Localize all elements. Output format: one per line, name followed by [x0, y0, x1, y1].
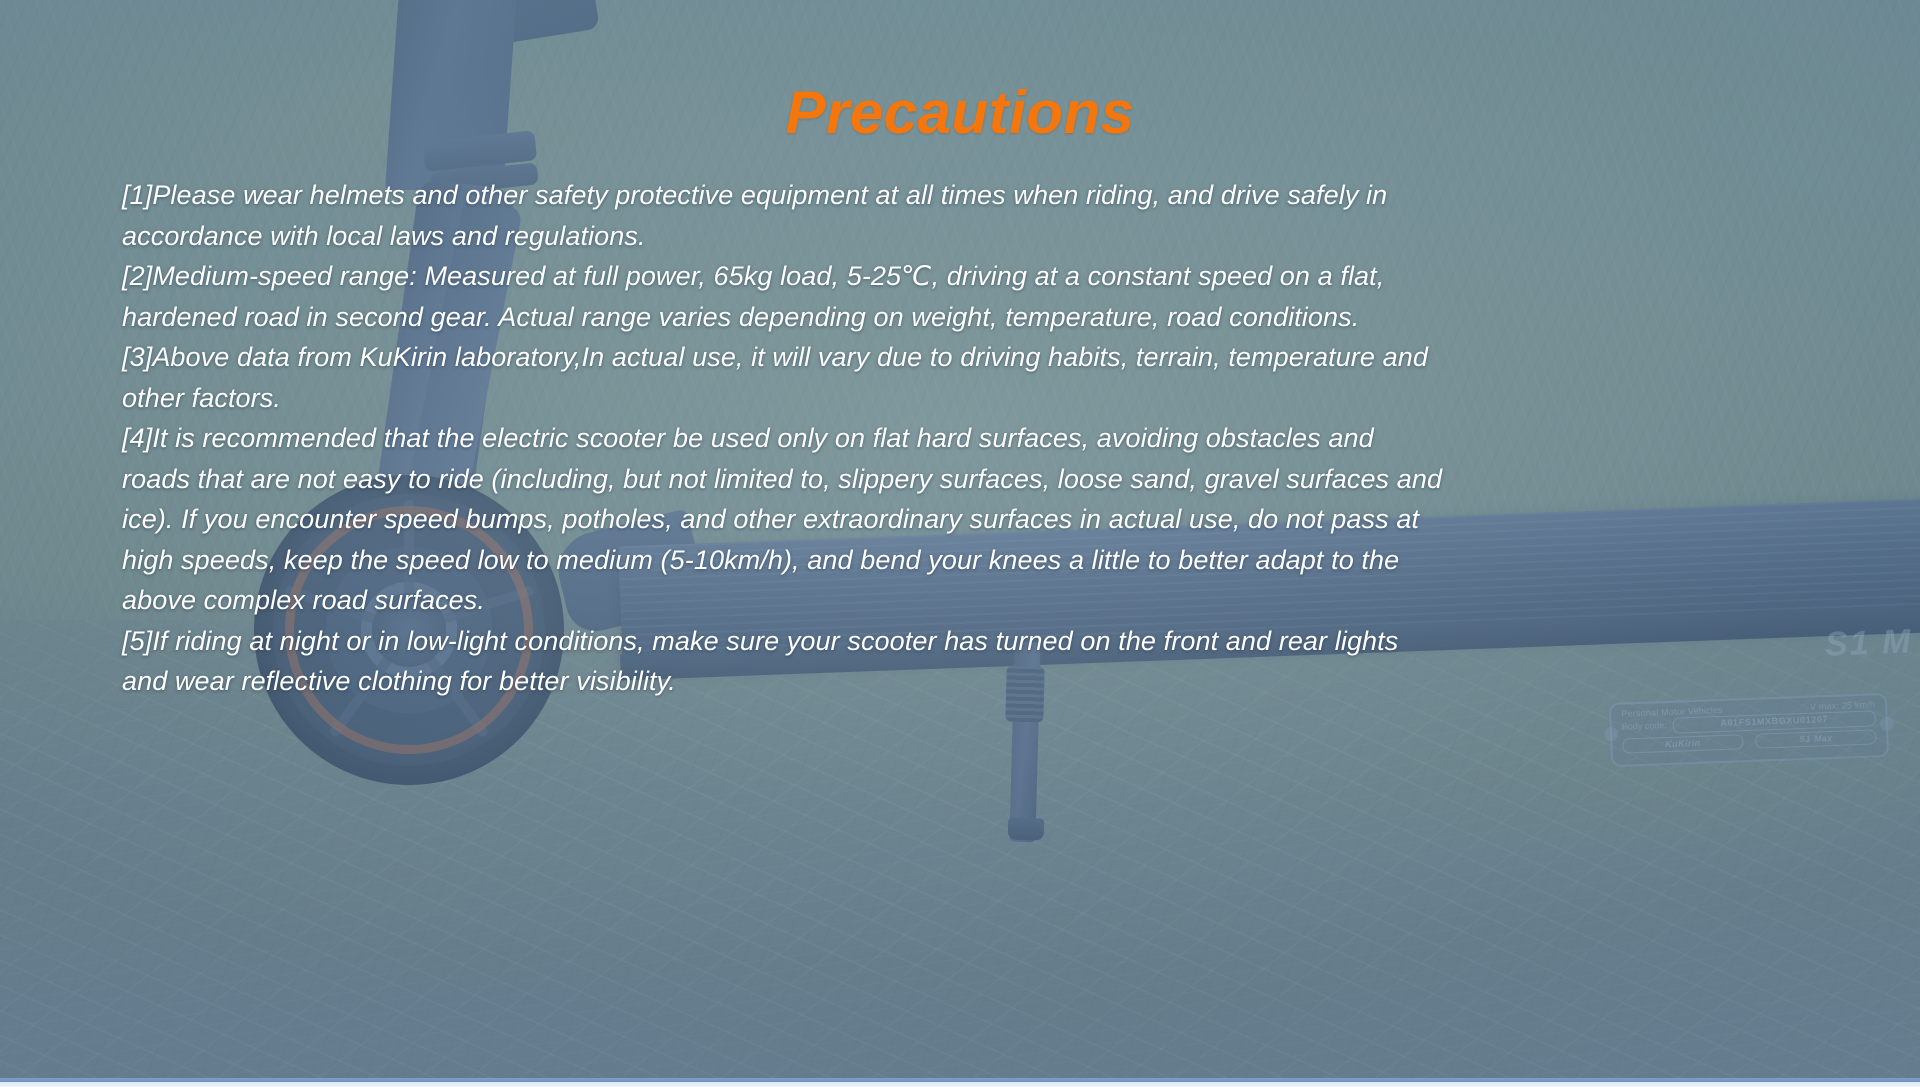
precautions-list: [1]Please wear helmets and other safety … — [122, 175, 1447, 702]
precaution-item: [1]Please wear helmets and other safety … — [122, 175, 1447, 256]
precaution-item: [3]Above data from KuKirin laboratory,In… — [122, 337, 1447, 418]
precautions-slide: S1 M Personal Motor Vehicles V max: 25 k… — [0, 0, 1920, 1087]
precaution-item: [2]Medium-speed range: Measured at full … — [122, 256, 1447, 337]
precaution-item: [5]If riding at night or in low-light co… — [122, 621, 1447, 702]
slide-content: Precautions [1]Please wear helmets and o… — [0, 0, 1920, 1087]
slide-bottom-band — [0, 1078, 1920, 1087]
precaution-item: [4]It is recommended that the electric s… — [122, 418, 1447, 621]
page-title: Precautions — [0, 78, 1920, 147]
